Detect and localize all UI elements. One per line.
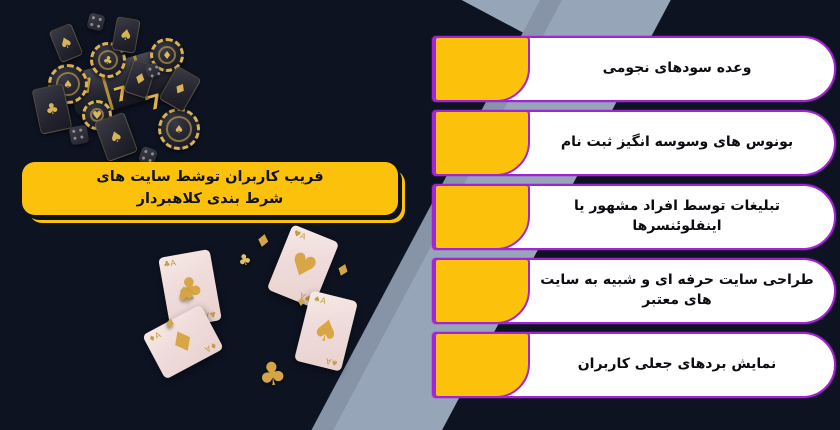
list-item[interactable]: طراحی سایت حرفه ای و شبیه به سایت های مع…	[432, 258, 836, 324]
list-item-accent-block	[434, 258, 530, 324]
list-item-accent-block	[434, 332, 530, 398]
dice-icon	[86, 12, 105, 31]
list-item-label: وعده سودهای نجومی	[530, 59, 834, 79]
list-item-label: طراحی سایت حرفه ای و شبیه به سایت های مع…	[530, 271, 834, 311]
poker-chip-icon: ♠	[158, 108, 200, 150]
list-item[interactable]: تبلیغات توسط افراد مشهور یا اینفلوئنسرها	[432, 184, 836, 250]
casino-slot-chips-illustration: 7 7 7 ♠ ♣ ♦ ♠ ♥ ♠ ♠ ♣ ♦ ♠ ♦	[18, 8, 228, 173]
gold-club-icon: ♣	[255, 353, 289, 395]
list-item[interactable]: بونوس های وسوسه انگیز ثبت نام	[432, 110, 836, 176]
infographic-canvas: 7 7 7 ♠ ♣ ♦ ♠ ♥ ♠ ♠ ♣ ♦ ♠ ♦ A♣♣A♣ A♦♦A♦ …	[0, 0, 840, 430]
dark-playing-card-icon: ♠	[49, 23, 84, 64]
gold-diamond-icon: ♦	[295, 294, 308, 309]
dark-playing-card-icon: ♠	[94, 112, 138, 162]
list-item-label: بونوس های وسوسه انگیز ثبت نام	[530, 133, 834, 153]
gold-diamond-icon: ♦	[332, 259, 353, 283]
gold-club-icon: ♣	[236, 249, 254, 270]
main-title-line-2: شرط بندی کلاهبردار	[96, 189, 323, 210]
main-title-box: فریب کاربران توشط سایت های شرط بندی کلاه…	[22, 162, 398, 215]
gold-diamond-icon: ♦	[163, 316, 177, 332]
list-item[interactable]: وعده سودهای نجومی	[432, 36, 836, 102]
gold-diamond-icon: ♦	[253, 230, 273, 254]
dark-playing-card-icon: ♠	[111, 16, 141, 54]
list-item-accent-block	[434, 184, 530, 250]
list-item[interactable]: نمایش بردهای جعلی کاربران	[432, 332, 836, 398]
main-title-line-1: فریب کاربران توشط سایت های	[96, 167, 323, 188]
tactics-list: وعده سودهای نجومی بونوس های وسوسه انگیز …	[432, 36, 836, 398]
dice-icon	[69, 125, 90, 146]
gold-playing-cards-illustration: A♣♣A♣ A♦♦A♦ A♥♥A♥ A♠♠A♠ ♠ ♦ ♣ ♦ ♦ ♣ ♦	[150, 225, 410, 420]
list-item-label: نمایش بردهای جعلی کاربران	[530, 355, 834, 375]
list-item-accent-block	[434, 36, 530, 102]
list-item-label: تبلیغات توسط افراد مشهور یا اینفلوئنسرها	[530, 197, 834, 237]
list-item-accent-block	[434, 110, 530, 176]
main-title-text: فریب کاربران توشط سایت های شرط بندی کلاه…	[80, 167, 339, 209]
